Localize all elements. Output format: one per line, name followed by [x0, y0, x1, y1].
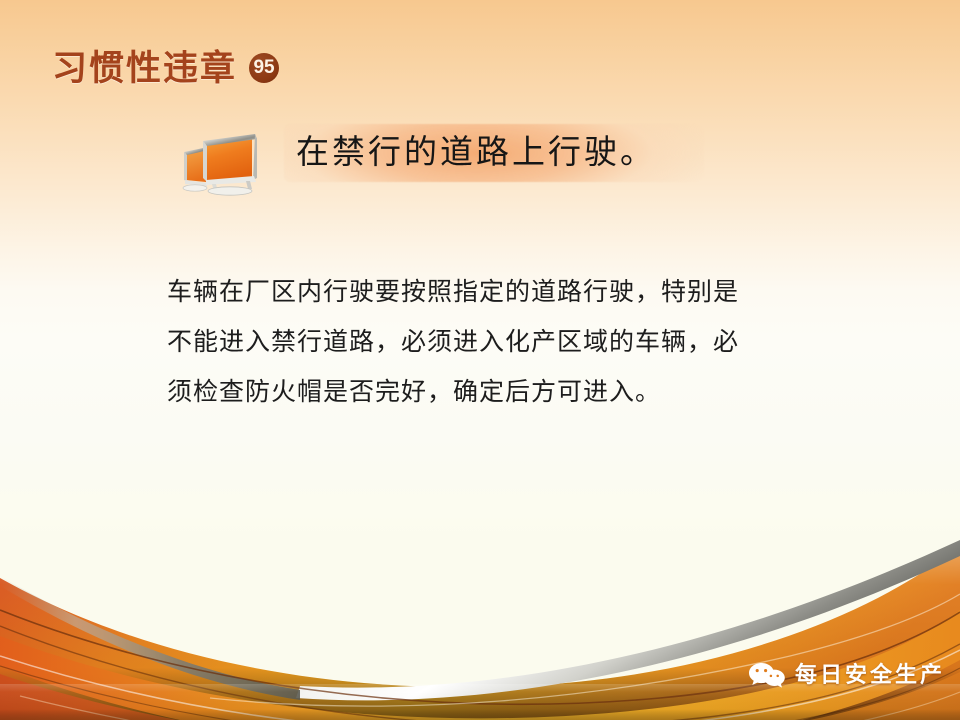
slide-number-badge: 95	[249, 53, 279, 83]
page-title: 习惯性违章95	[52, 48, 279, 90]
body-copy: 车辆在厂区内行驶要按照指定的道路行驶，特别是 不能进入禁行道路，必须进入化产区域…	[167, 268, 777, 418]
wechat-label: 每日安全生产	[795, 661, 945, 689]
body-line: 不能进入禁行道路，必须进入化产区域的车辆，必	[167, 318, 777, 368]
page-title-text: 习惯性违章	[52, 49, 237, 88]
panel-screens-icon	[178, 128, 264, 196]
body-line: 车辆在厂区内行驶要按照指定的道路行驶，特别是	[167, 268, 777, 318]
wechat-logo-icon	[748, 661, 786, 689]
wechat-badge: 每日安全生产	[748, 658, 945, 692]
heading-text: 在禁行的道路上行驶。	[296, 126, 656, 180]
body-line: 须检查防火帽是否完好，确定后方可进入。	[167, 368, 777, 418]
slide-canvas: 习惯性违章95	[0, 0, 960, 720]
